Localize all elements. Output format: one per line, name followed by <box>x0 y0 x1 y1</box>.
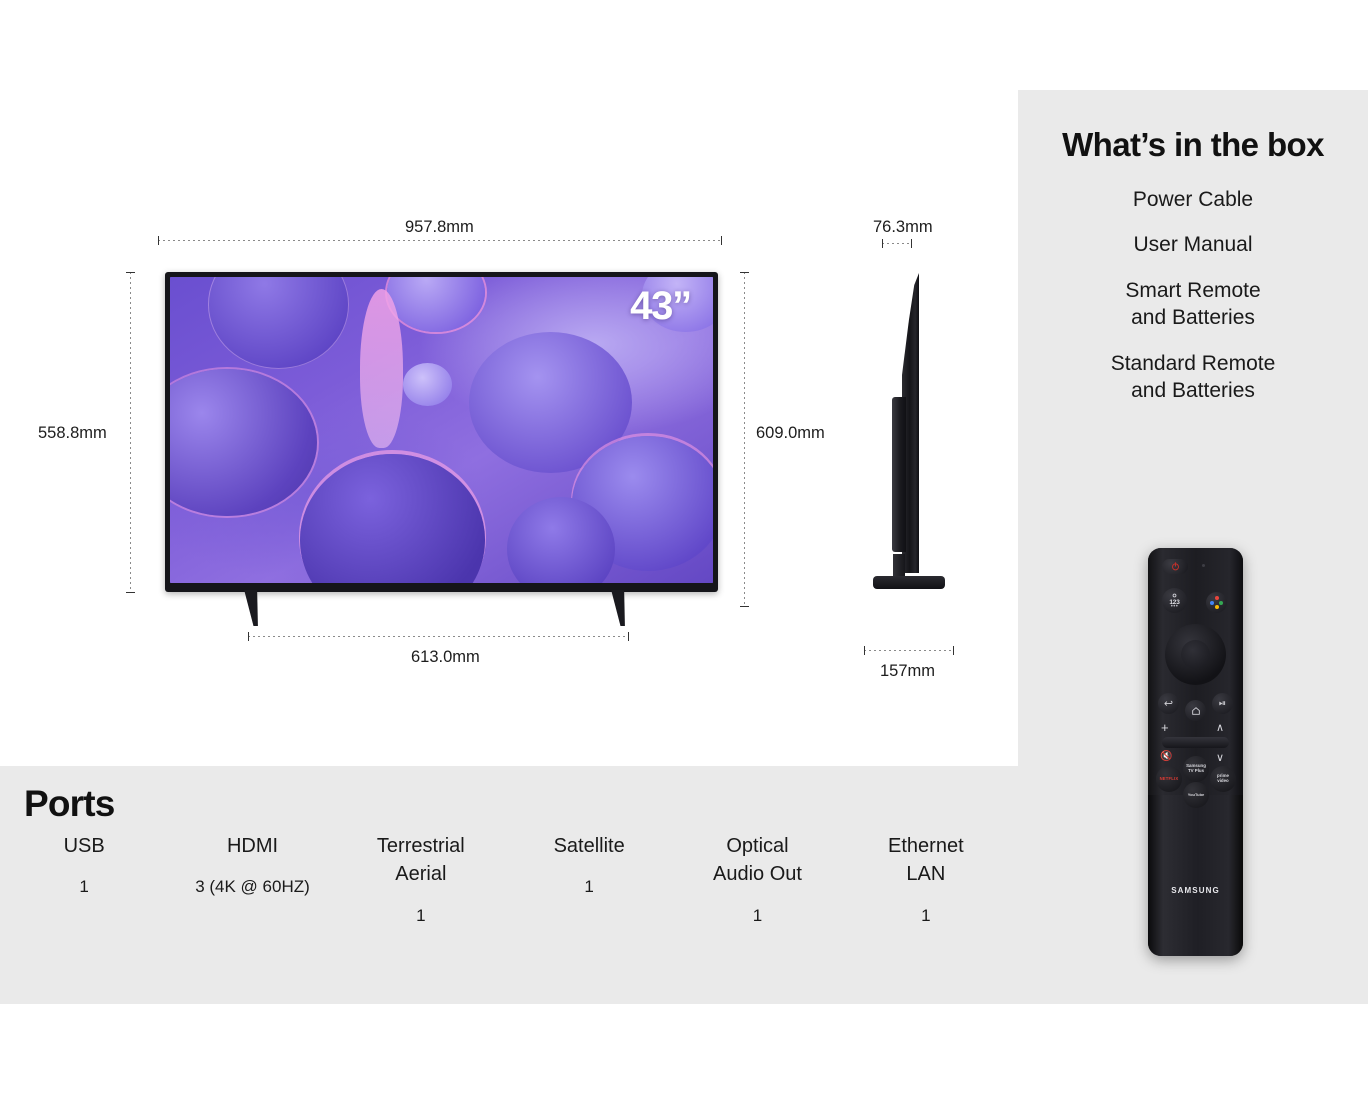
netflix-button[interactable]: NETFLIX <box>1156 766 1182 792</box>
chevron-up-icon: ∧ <box>1216 722 1224 734</box>
mute-button[interactable]: 🔇 <box>1160 752 1172 762</box>
screen-size-badge: 43” <box>630 284 691 329</box>
netflix-label: NETFLIX <box>1160 777 1179 781</box>
port-column: Ethernet LAN 1 <box>842 832 1010 926</box>
keypad-dots-icon: ••• <box>1171 606 1179 609</box>
port-column: Terrestrial Aerial 1 <box>337 832 505 926</box>
product-spec-sheet: 43” 957.8mm 558.8mm 609.0mm 613.0mm 76.3… <box>0 0 1368 1094</box>
dimension-side-depth: 76.3mm <box>873 218 933 237</box>
bubble-9 <box>403 363 452 406</box>
port-column: Optical Audio Out 1 <box>673 832 841 926</box>
port-value: 1 <box>505 877 673 897</box>
dimension-front-height: 558.8mm <box>38 424 107 443</box>
tv-stand-base <box>873 576 945 589</box>
whats-in-the-box-title: What’s in the box <box>1018 125 1368 165</box>
depth-measure-line <box>882 243 912 244</box>
ports-table: USB 1 HDMI 3 (4K @ 60HZ) Terrestrial Aer… <box>0 832 1010 926</box>
samsung-tv-plus-label: Samsung TV Plus <box>1186 764 1206 773</box>
play-pause-icon: ⏯ <box>1219 698 1226 709</box>
stand-depth-measure-line <box>864 650 954 651</box>
keypad-button[interactable]: 123 ••• <box>1162 588 1187 613</box>
home-button[interactable] <box>1185 700 1206 721</box>
dimension-front-height-with-stand: 609.0mm <box>756 424 825 443</box>
height-measure-line <box>130 272 131 592</box>
youtube-label: YouTube <box>1188 793 1205 797</box>
port-label: Ethernet LAN <box>842 832 1010 889</box>
port-label: HDMI <box>168 832 336 860</box>
stand-width-cap-left <box>248 632 249 641</box>
port-value: 3 (4K @ 60HZ) <box>168 877 336 897</box>
ports-title: Ports <box>24 783 115 825</box>
port-label: Satellite <box>505 832 673 860</box>
microphone-icon <box>1202 564 1205 567</box>
samsung-tv-plus-button[interactable]: Samsung TV Plus <box>1183 756 1209 782</box>
prime-video-button[interactable]: prime video <box>1210 766 1236 792</box>
stand-width-cap-right <box>628 632 629 641</box>
channel-down-button[interactable]: ∨ <box>1216 753 1224 764</box>
back-icon: ↩ <box>1164 697 1173 710</box>
smart-remote: 123 ••• ↩ ⏯ + ∧ <box>1148 548 1243 956</box>
dimension-stand-width: 613.0mm <box>411 648 480 667</box>
colored-dots-icon <box>1210 596 1223 609</box>
tv-front-body: 43” <box>165 272 718 592</box>
youtube-button[interactable]: YouTube <box>1183 782 1209 808</box>
port-label: Optical Audio Out <box>673 832 841 889</box>
whats-in-the-box-section: What’s in the box Power Cable User Manua… <box>1018 125 1368 424</box>
height-stand-cap-bottom <box>740 606 749 607</box>
port-label: Terrestrial Aerial <box>337 832 505 889</box>
box-item: Standard Remote and Batteries <box>1018 351 1368 405</box>
power-icon <box>1171 562 1180 571</box>
tv-side-view <box>885 273 919 596</box>
bubble-streak <box>360 289 403 448</box>
port-column: USB 1 <box>0 832 168 926</box>
volume-up-button[interactable]: + <box>1161 721 1169 734</box>
stand-depth-cap-right <box>953 646 954 655</box>
height-measure-cap-bottom <box>126 592 135 593</box>
prime-video-label: prime video <box>1217 774 1229 783</box>
remote-lower-section <box>1148 795 1243 956</box>
tv-screen: 43” <box>170 277 713 583</box>
chevron-down-icon: ∨ <box>1216 752 1224 764</box>
port-column: HDMI 3 (4K @ 60HZ) <box>168 832 336 926</box>
dimension-front-width: 957.8mm <box>405 218 474 237</box>
home-icon <box>1191 706 1201 716</box>
power-button[interactable] <box>1162 559 1188 574</box>
depth-cap-right <box>911 239 912 248</box>
port-value: 1 <box>337 906 505 926</box>
volume-channel-rocker[interactable] <box>1162 737 1229 748</box>
back-button[interactable]: ↩ <box>1158 693 1179 714</box>
remote-brand-logo: SAMSUNG <box>1148 886 1243 895</box>
width-measure-cap-left <box>158 236 159 245</box>
port-value: 1 <box>842 906 1010 926</box>
stand-width-measure-line <box>248 636 629 637</box>
gear-icon <box>1171 592 1178 599</box>
stand-depth-cap-left <box>864 646 865 655</box>
tv-foot-left <box>244 590 263 626</box>
box-item: Smart Remote and Batteries <box>1018 278 1368 332</box>
assistant-button[interactable] <box>1206 592 1227 613</box>
port-value: 1 <box>673 906 841 926</box>
mute-icon: 🔇 <box>1160 751 1172 762</box>
box-item: Power Cable <box>1018 187 1368 214</box>
height-measure-cap-top <box>126 272 135 273</box>
height-stand-cap-top <box>740 272 749 273</box>
box-item: User Manual <box>1018 232 1368 259</box>
port-label: USB <box>0 832 168 860</box>
tv-foot-right <box>611 590 630 626</box>
depth-cap-left <box>882 239 883 248</box>
channel-up-button[interactable]: ∧ <box>1216 723 1224 734</box>
port-column: Satellite 1 <box>505 832 673 926</box>
dimension-stand-depth: 157mm <box>880 662 935 681</box>
width-measure-line <box>158 240 722 241</box>
port-value: 1 <box>0 877 168 897</box>
play-pause-button[interactable]: ⏯ <box>1212 693 1233 714</box>
height-stand-measure-line <box>744 272 745 606</box>
tv-side-housing <box>892 397 906 552</box>
volume-up-icon: + <box>1161 720 1169 735</box>
width-measure-cap-right <box>721 236 722 245</box>
directional-pad[interactable] <box>1165 624 1226 685</box>
